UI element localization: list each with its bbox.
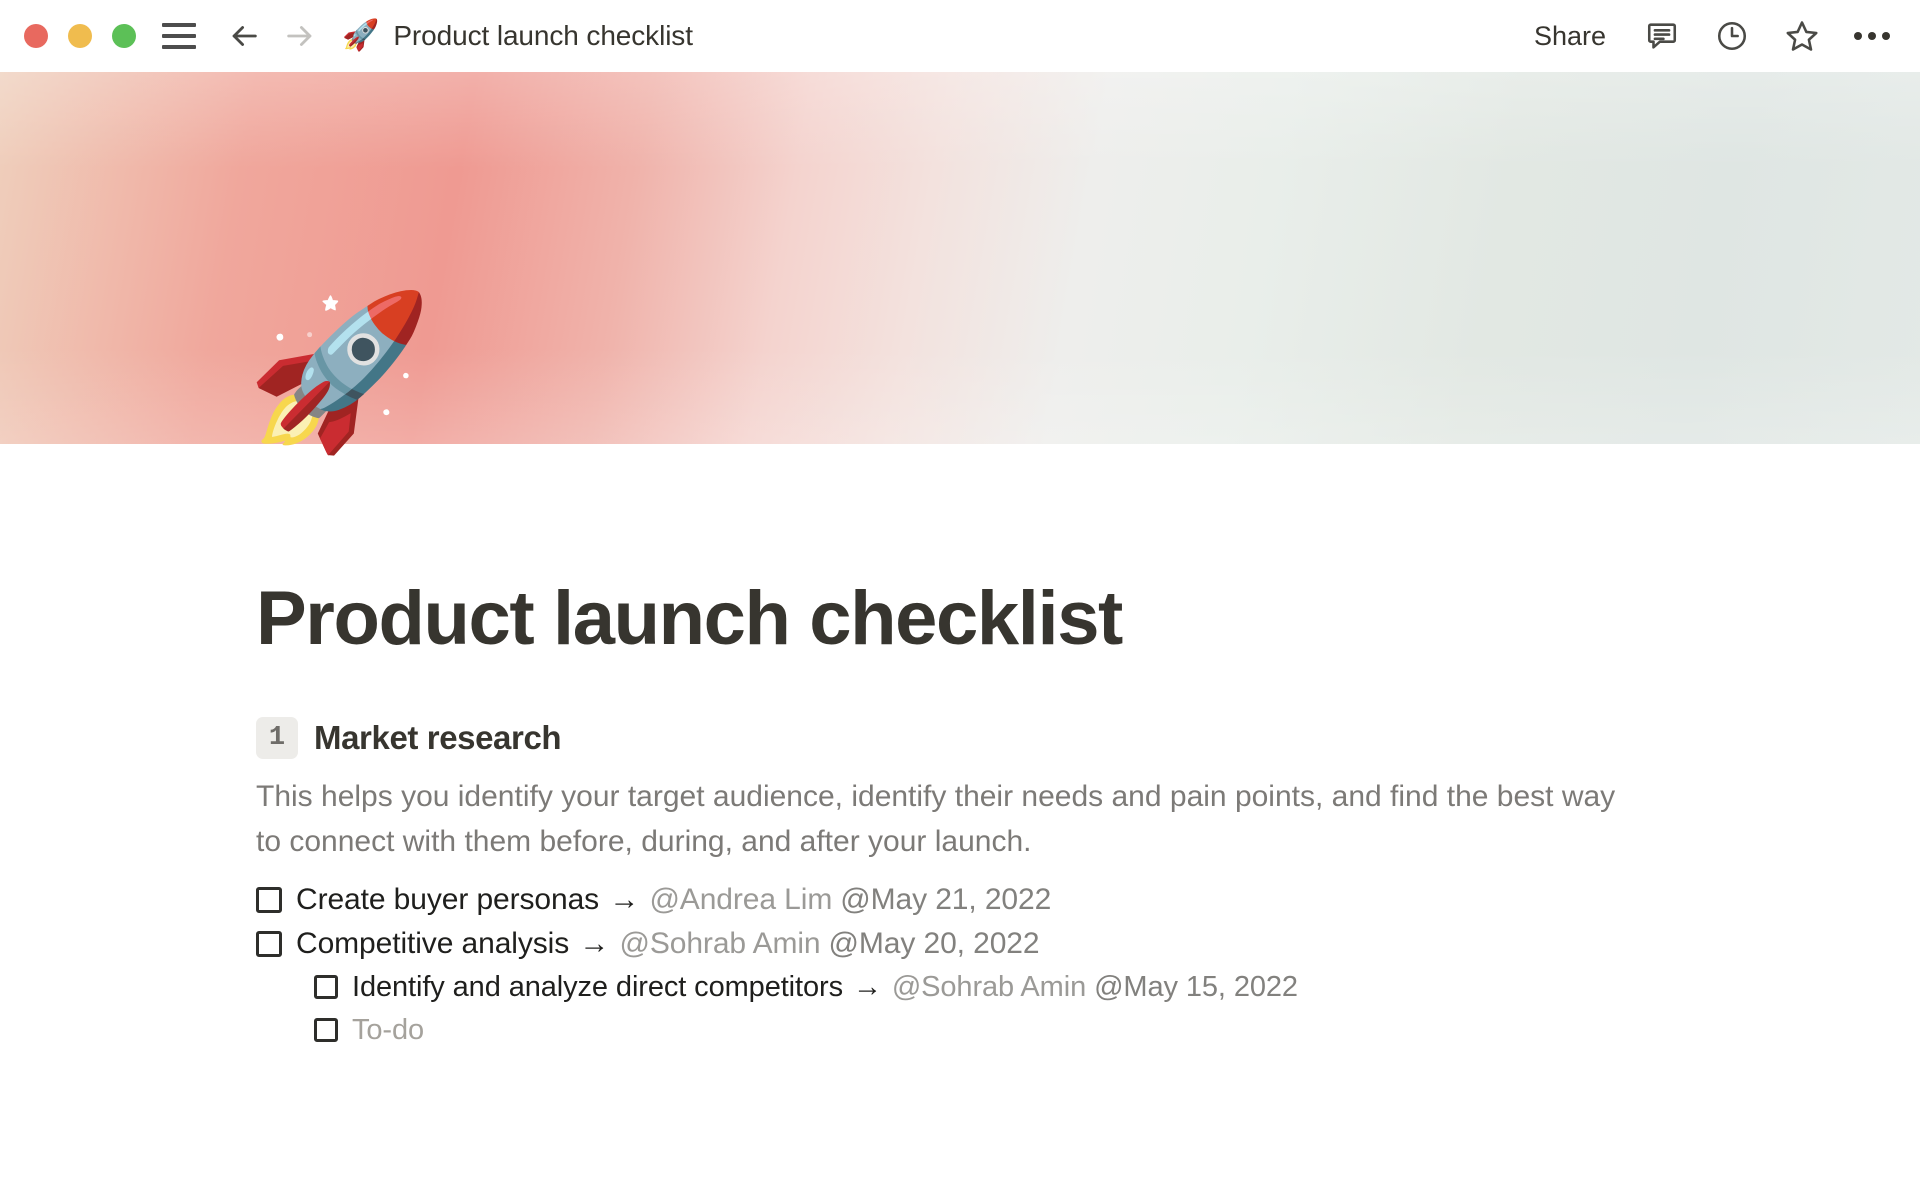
- arrow-right-glyph: →: [843, 971, 892, 1003]
- todo-label: Identify and analyze direct competitors: [352, 971, 843, 1003]
- arrow-right-icon[interactable]: [280, 16, 320, 56]
- todo-item[interactable]: Identify and analyze direct competitors …: [314, 966, 1840, 1009]
- window-titlebar: 🚀 Product launch checklist Share: [0, 0, 1920, 72]
- clock-history-icon[interactable]: [1712, 16, 1752, 56]
- section-description[interactable]: This helps you identify your target audi…: [256, 775, 1636, 864]
- mention-person[interactable]: @Andrea Lim: [649, 883, 832, 916]
- star-icon[interactable]: [1782, 16, 1822, 56]
- page-content: 🚀 Product launch checklist 1 Market rese…: [0, 444, 1920, 1052]
- titlebar-actions: Share: [1528, 16, 1892, 56]
- arrow-left-icon[interactable]: [224, 16, 264, 56]
- page-title[interactable]: Product launch checklist: [256, 444, 1840, 661]
- dot: [1854, 32, 1862, 40]
- todo-label: To-do: [352, 1014, 424, 1046]
- page-rocket-icon[interactable]: 🚀: [246, 296, 433, 446]
- todo-list: Create buyer personas → @Andrea Lim@May …: [256, 878, 1840, 1052]
- mention-date[interactable]: @May 21, 2022: [840, 883, 1051, 916]
- todo-text[interactable]: Create buyer personas → @Andrea Lim@May …: [296, 883, 1051, 917]
- mention-date[interactable]: @May 20, 2022: [829, 927, 1040, 960]
- todo-checkbox[interactable]: [256, 887, 282, 913]
- share-button[interactable]: Share: [1528, 17, 1612, 56]
- rocket-icon: 🚀: [342, 21, 379, 51]
- traffic-lights: [24, 24, 136, 48]
- todo-checkbox[interactable]: [256, 931, 282, 957]
- dot: [1882, 32, 1890, 40]
- mention-date[interactable]: @May 15, 2022: [1094, 971, 1298, 1003]
- todo-item[interactable]: Create buyer personas → @Andrea Lim@May …: [256, 878, 1840, 922]
- todo-item[interactable]: Competitive analysis → @Sohrab Amin@May …: [256, 922, 1840, 966]
- todo-text[interactable]: Competitive analysis → @Sohrab Amin@May …: [296, 927, 1039, 961]
- section-number-badge: 1: [256, 717, 298, 759]
- hamburger-line: [162, 45, 196, 49]
- maximize-window-button[interactable]: [112, 24, 136, 48]
- arrow-right-glyph: →: [569, 927, 619, 960]
- todo-checkbox[interactable]: [314, 975, 338, 999]
- comment-icon[interactable]: [1642, 16, 1682, 56]
- close-window-button[interactable]: [24, 24, 48, 48]
- more-options-icon[interactable]: [1852, 16, 1892, 56]
- section-title[interactable]: Market research: [314, 719, 561, 757]
- navigation-arrows: [224, 16, 320, 56]
- todo-text[interactable]: To-do: [352, 1014, 424, 1047]
- breadcrumb-title: Product launch checklist: [393, 20, 693, 52]
- todo-item[interactable]: To-do: [314, 1009, 1840, 1052]
- todo-label: Create buyer personas: [296, 883, 599, 916]
- hamburger-line: [162, 34, 196, 38]
- todo-text[interactable]: Identify and analyze direct competitors …: [352, 971, 1298, 1004]
- hamburger-icon[interactable]: [162, 23, 196, 49]
- section-heading: 1 Market research: [256, 717, 1840, 759]
- todo-label: Competitive analysis: [296, 927, 569, 960]
- minimize-window-button[interactable]: [68, 24, 92, 48]
- arrow-right-glyph: →: [599, 883, 649, 916]
- dot: [1868, 32, 1876, 40]
- todo-checkbox[interactable]: [314, 1018, 338, 1042]
- mention-person[interactable]: @Sohrab Amin: [892, 971, 1086, 1003]
- breadcrumb[interactable]: 🚀 Product launch checklist: [342, 20, 693, 52]
- hamburger-line: [162, 23, 196, 27]
- mention-person[interactable]: @Sohrab Amin: [620, 927, 821, 960]
